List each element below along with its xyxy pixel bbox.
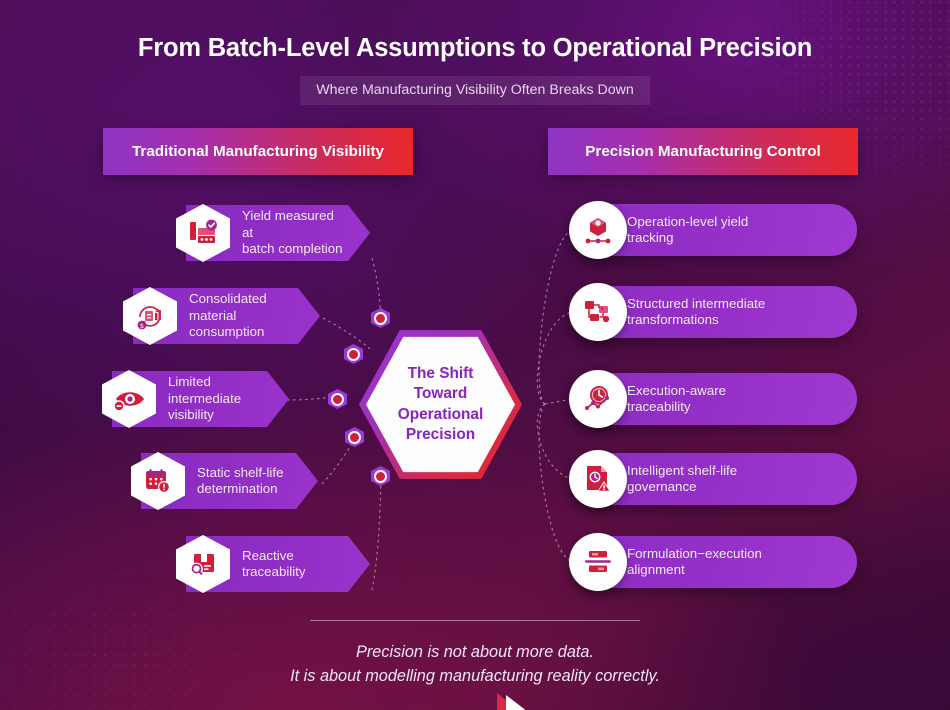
center-arrow-icon: [506, 695, 554, 710]
left-item-3-label: Limited intermediatevisibility: [168, 374, 263, 424]
page-title: From Batch-Level Assumptions to Operatio…: [0, 34, 950, 63]
right-item-5[interactable]: Formulation−executionalignment: [571, 536, 857, 588]
right-item-2[interactable]: Structured intermediatetransformations: [571, 286, 857, 338]
right-item-4[interactable]: Intelligent shelf-lifegovernance: [571, 453, 857, 505]
footer-divider: [310, 620, 640, 621]
document-clock-alert-icon: [569, 450, 627, 508]
right-item-1-label: Operation-level yieldtracking: [627, 214, 748, 247]
connector-node: [371, 308, 390, 328]
left-item-5-label: Reactivetraceability: [242, 548, 306, 581]
box-network-icon: [569, 201, 627, 259]
right-item-4-label: Intelligent shelf-lifegovernance: [627, 463, 737, 496]
right-item-1[interactable]: Operation-level yieldtracking: [571, 204, 857, 256]
left-item-1-label: Yield measured atbatch completion: [242, 208, 344, 258]
infographic-canvas: From Batch-Level Assumptions to Operatio…: [0, 0, 950, 710]
svg-text:$: $: [140, 322, 144, 330]
clock-trend-icon: [569, 370, 627, 428]
right-item-3-label: Execution-awaretraceability: [627, 383, 726, 416]
page-subtitle: Where Manufacturing Visibility Often Bre…: [300, 76, 650, 105]
right-item-5-label: Formulation−executionalignment: [627, 546, 762, 579]
flow-nodes-icon: [569, 283, 627, 341]
footer-quote: Precision is not about more data. It is …: [0, 640, 950, 688]
center-hexagon: The Shift Toward Operational Precision: [359, 327, 522, 482]
left-item-4-label: Static shelf-lifedetermination: [197, 465, 283, 498]
connector-node: [328, 389, 347, 409]
center-hexagon-label: The Shift Toward Operational Precision: [398, 364, 484, 446]
right-item-2-label: Structured intermediatetransformations: [627, 296, 765, 329]
column-header-precision: Precision Manufacturing Control: [548, 128, 858, 175]
left-item-2-label: Consolidated materialconsumption: [189, 291, 294, 341]
column-header-traditional: Traditional Manufacturing Visibility: [103, 128, 413, 175]
balance-bars-icon: [569, 533, 627, 591]
right-item-3[interactable]: Execution-awaretraceability: [571, 373, 857, 425]
